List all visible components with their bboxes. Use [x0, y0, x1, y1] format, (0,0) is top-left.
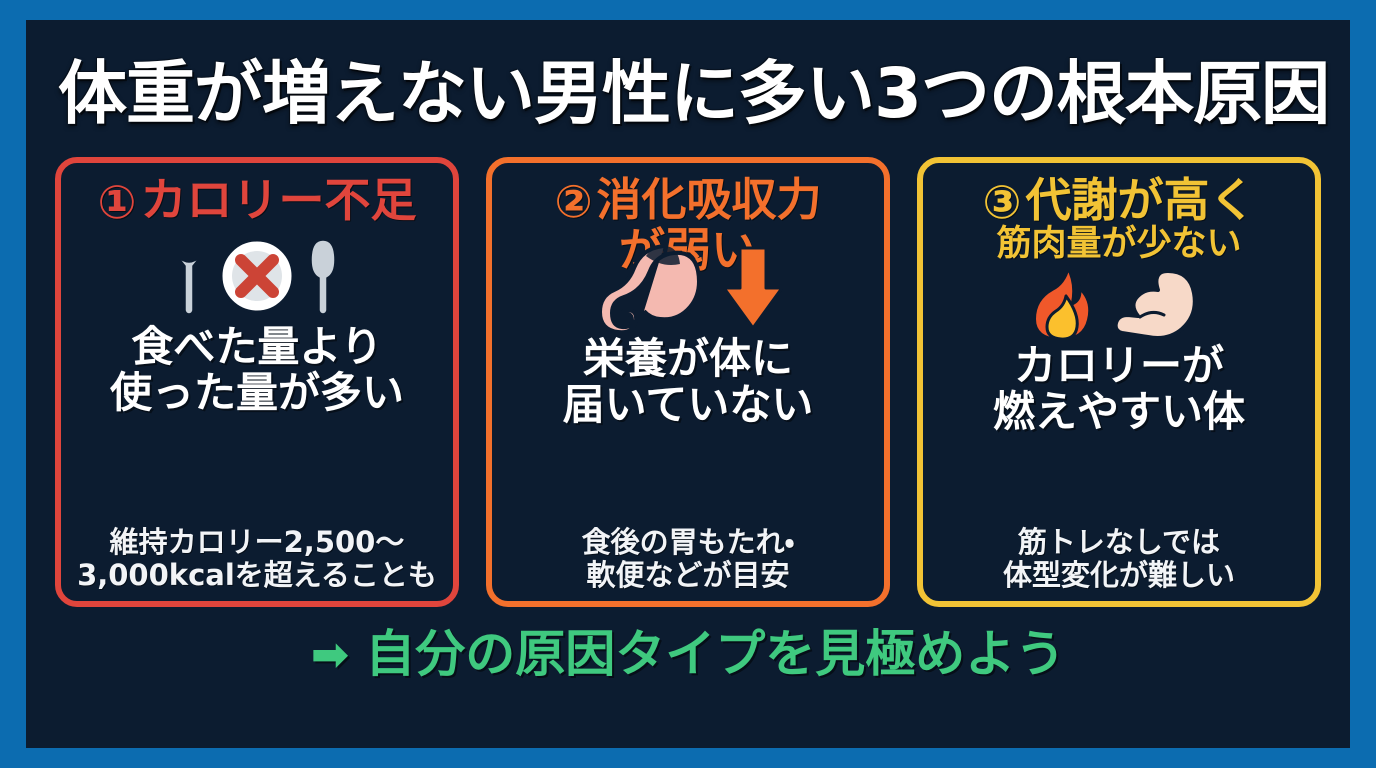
cause-card-3-icons [1028, 263, 1210, 343]
circled-number-2-icon: ② [554, 179, 592, 225]
cause-cards-row: ①カロリー不足 [55, 157, 1321, 607]
right-arrow-icon: ➡ [311, 631, 350, 677]
cause-card-1-statement-line2: 使った量が多い [71, 370, 443, 416]
down-arrow-icon [720, 244, 786, 332]
circled-number-1-icon: ① [98, 179, 137, 226]
cause-card-3-heading: ③代謝が高く 筋肉量が少ない [933, 177, 1305, 263]
footer-callout: ➡ 自分の原因タイプを見極めよう [311, 629, 1066, 679]
cause-card-1-heading-line1: カロリー不足 [140, 173, 416, 227]
cause-card-1-note-line1: 維持カロリー2,500〜 [71, 526, 443, 558]
infographic-poster: 体重が増えない男性に多い3つの根本原因 ①カロリー不足 [0, 0, 1376, 768]
circled-number-3-icon: ③ [983, 179, 1022, 226]
cause-card-2-icons [590, 240, 786, 336]
cause-card-2-note-line1: 食後の胃もたれ・ [502, 526, 874, 558]
cause-card-3: ③代謝が高く 筋肉量が少ない カロリーが 燃えやす [917, 157, 1321, 607]
cause-card-3-heading-line1: 代謝が高く [1025, 173, 1255, 227]
cause-card-3-note-line2: 体型変化が難しい [933, 559, 1305, 591]
cause-card-1-icons [167, 228, 347, 324]
cause-card-3-note: 筋トレなしでは 体型変化が難しい [933, 526, 1305, 591]
cause-card-1-note: 維持カロリー2,500〜 3,000kcalを超えることも [71, 526, 443, 591]
fire-icon [1028, 264, 1102, 342]
cause-card-1-statement: 食べた量より 使った量が多い [71, 324, 443, 416]
cause-card-2-statement-line1: 栄養が体に [502, 336, 874, 382]
cause-card-2-note-line2: 軟便などが目安 [502, 559, 874, 591]
cause-card-1-note-line2: 3,000kcalを超えることも [71, 559, 443, 591]
page-title: 体重が増えない男性に多い3つの根本原因 [58, 60, 1318, 129]
flexed-biceps-icon [1114, 267, 1210, 339]
cause-card-3-statement-line2: 燃えやすい体 [933, 389, 1305, 435]
footer-callout-text: 自分の原因タイプを見極めよう [365, 629, 1065, 679]
cause-card-3-statement-line1: カロリーが [933, 343, 1305, 389]
cause-card-3-note-line1: 筋トレなしでは [933, 526, 1305, 558]
cause-card-1-statement-line1: 食べた量より [71, 324, 443, 370]
content-panel: 体重が増えない男性に多い3つの根本原因 ①カロリー不足 [26, 20, 1350, 748]
cause-card-2: ②消化吸収力 が弱い 栄養が体に 届いていない [486, 157, 890, 607]
cause-card-3-statement: カロリーが 燃えやすい体 [933, 343, 1305, 435]
cause-card-1: ①カロリー不足 [55, 157, 459, 607]
cause-card-1-heading: ①カロリー不足 [71, 177, 443, 226]
cause-card-2-note: 食後の胃もたれ・ 軟便などが目安 [502, 526, 874, 591]
cause-card-2-statement-line2: 届いていない [502, 382, 874, 428]
plate-with-cutlery-icon [167, 232, 347, 320]
cause-card-2-statement: 栄養が体に 届いていない [502, 336, 874, 428]
stomach-icon [590, 240, 710, 336]
cause-card-3-heading-line2: 筋肉量が少ない [933, 227, 1305, 263]
cause-card-2-heading-line1: 消化吸収力 [597, 173, 822, 226]
